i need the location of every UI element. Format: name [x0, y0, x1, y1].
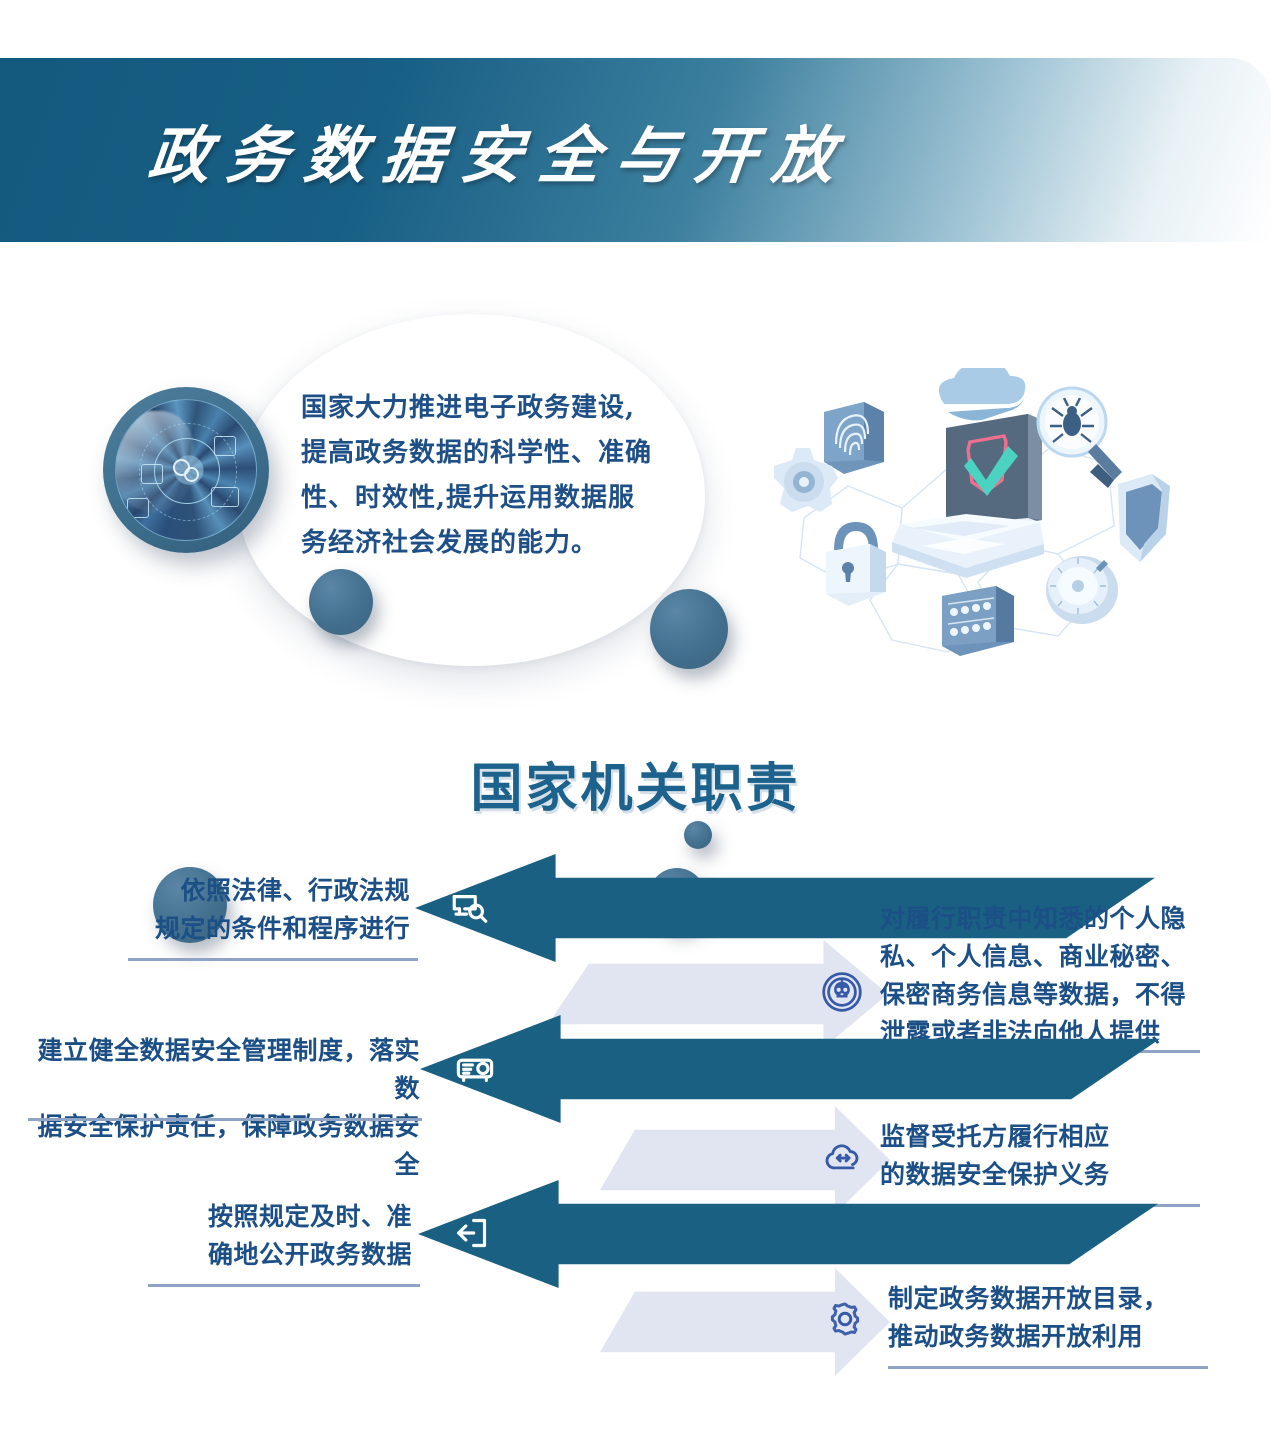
- duty-right-line: 制定政务数据开放目录，: [888, 1280, 1208, 1318]
- photo-chip-2: [141, 464, 163, 484]
- duty-left-rule-3: [148, 1284, 420, 1287]
- fingerprint-icon: [824, 402, 884, 474]
- duty-left-line: 建立健全数据安全管理制度，落实数: [20, 1032, 420, 1108]
- privacy-skull-icon-glyph: [820, 970, 864, 1014]
- password-field-icon: [942, 586, 1014, 656]
- cloud-exchange-icon: [822, 1136, 864, 1178]
- duty-right-line: 推动政务数据开放利用: [888, 1318, 1208, 1356]
- duty-left-arrow-3: [418, 1180, 1158, 1288]
- combination-dial-icon: [1046, 556, 1118, 624]
- infographic-page: 政务数据安全与开放 国家大力推进电子政务建设,提高政务数据的科学性、准确性、时效…: [0, 0, 1271, 1449]
- duty-right-line: 保密商务信息等数据，不得: [880, 976, 1200, 1014]
- duty-left-rule-2: [28, 1118, 422, 1121]
- decor-dot-1: [309, 569, 373, 635]
- duty-left-text-2: 建立健全数据安全管理制度，落实数 据安全保护责任，保障政务数据安全: [20, 1032, 420, 1184]
- decor-dot-2: [650, 589, 728, 669]
- shield-icon: [1118, 474, 1170, 562]
- padlock-icon: [826, 522, 886, 606]
- monitor-search-icon: [449, 887, 491, 929]
- duty-right-rule-3: [888, 1366, 1208, 1369]
- cloud-icon: [939, 368, 1026, 420]
- duty-right-line: 私、个人信息、商业秘密、: [880, 938, 1200, 976]
- photo-chip-4: [127, 498, 149, 518]
- magnifier-bug-icon: [1038, 388, 1122, 488]
- duty-left-line: 依照法律、行政法规: [120, 872, 410, 910]
- duty-left-text-1: 依照法律、行政法规 规定的条件和程序进行: [120, 872, 410, 948]
- duty-left-text-3: 按照规定及时、准 确地公开政务数据: [140, 1198, 412, 1274]
- header-banner: 政务数据安全与开放: [0, 58, 1271, 242]
- photo-chip-1: [214, 436, 236, 456]
- intro-photo-avatar: [103, 387, 269, 553]
- duty-right-text-1: 对履行职责中知悉的个人隐 私、个人信息、商业秘密、 保密商务信息等数据，不得 泄…: [880, 900, 1200, 1052]
- server-projector-icon: [454, 1048, 496, 1090]
- duty-left-line: 规定的条件和程序进行: [120, 910, 410, 948]
- duty-right-text-3: 制定政务数据开放目录， 推动政务数据开放利用: [888, 1280, 1208, 1356]
- duty-right-line: 对履行职责中知悉的个人隐: [880, 900, 1200, 938]
- page-title: 政务数据安全与开放: [0, 58, 1010, 242]
- duty-left-line: 按照规定及时、准: [140, 1198, 412, 1236]
- photo-gears-icon: [173, 459, 199, 481]
- intro-photo-image: [115, 399, 257, 541]
- duty-right-line: 监督受托方履行相应: [880, 1118, 1200, 1156]
- section-heading: 国家机关职责: [0, 746, 1271, 821]
- duty-left-rule-1: [128, 958, 418, 961]
- gear-icon: [824, 1298, 866, 1340]
- photo-chip-3: [211, 487, 239, 507]
- export-data-icon: [452, 1213, 494, 1255]
- intro-paragraph: 国家大力推进电子政务建设,提高政务数据的科学性、准确性、时效性,提升运用数据服务…: [301, 386, 653, 566]
- duty-right-line: 的数据安全保护义务: [880, 1156, 1200, 1194]
- cyber-security-illustration: [752, 368, 1176, 664]
- duty-right-text-2: 监督受托方履行相应 的数据安全保护义务: [880, 1118, 1200, 1194]
- duty-left-line: 确地公开政务数据: [140, 1236, 412, 1274]
- duties-diagram: 依照法律、行政法规 规定的条件和程序进行 对履行职责中知悉的个人隐 私、个人信息…: [0, 840, 1271, 1440]
